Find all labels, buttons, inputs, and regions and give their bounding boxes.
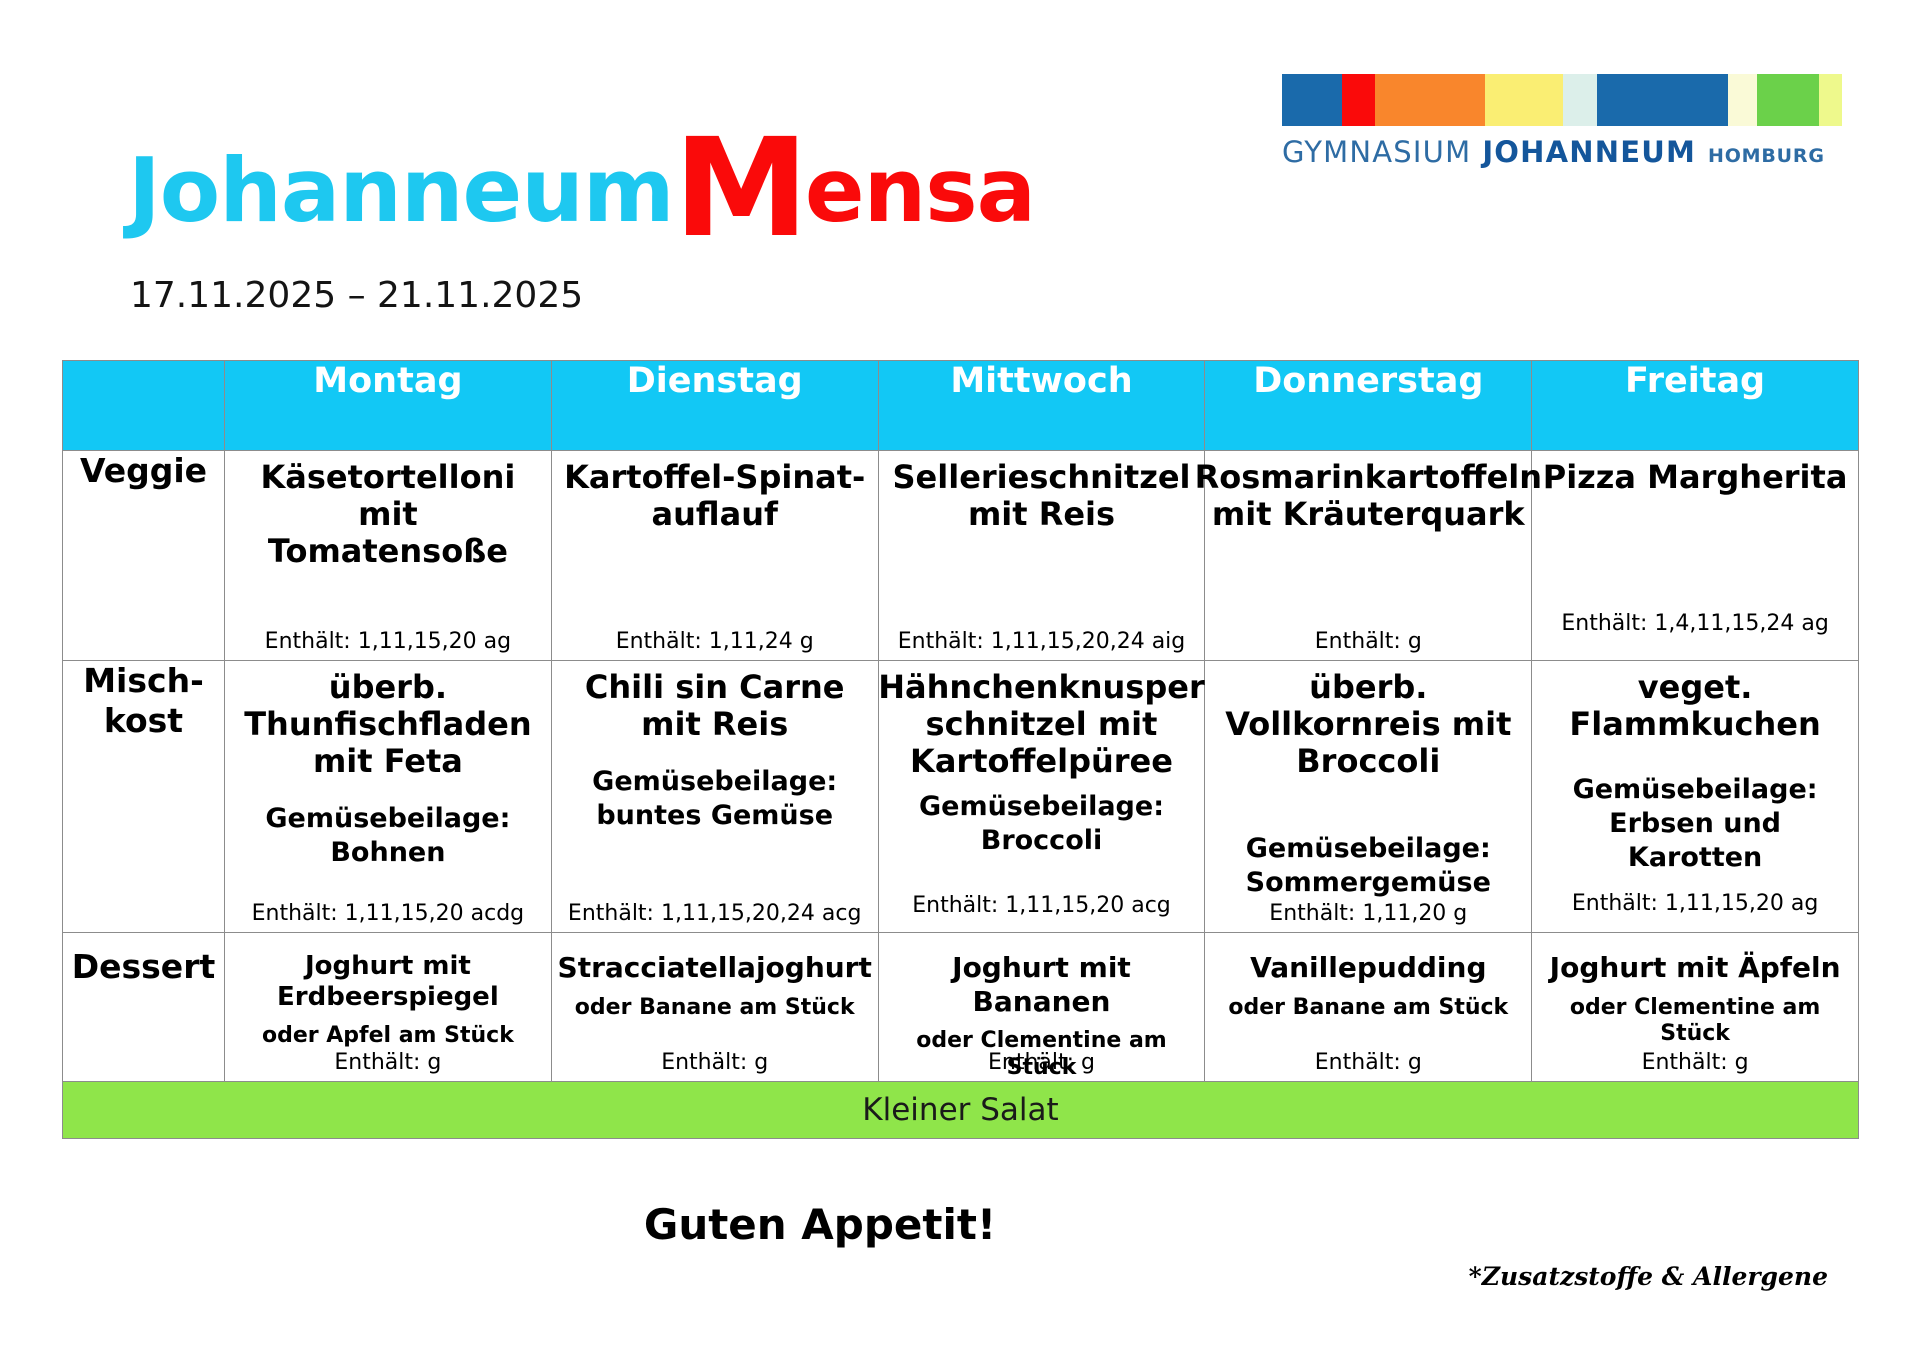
allergen-info: Enthält: g: [552, 1050, 878, 1075]
meal-cell-dessert-donnerstag: Vanillepudding oder Banane am Stück Enth…: [1205, 933, 1532, 1082]
meal-cell-veggie-donnerstag: Rosmarinkartoffeln mit Kräuterquark Enth…: [1205, 451, 1532, 661]
allergen-info: Enthält: 1,11,15,20 ag: [225, 629, 551, 654]
dish-name: Joghurt mit Bananen: [887, 951, 1197, 1018]
meal-cell-dessert-montag: Joghurt mit Erdbeerspiegel oder Apfel am…: [225, 933, 552, 1082]
dish-name: überb. Vollkornreis mit Broccoli: [1213, 669, 1523, 780]
dish-name: Pizza Margherita: [1543, 459, 1848, 496]
logo-bar-9: [1819, 74, 1842, 126]
page-title-m: M: [674, 110, 805, 268]
dessert-alternative: oder Banane am Stück: [575, 995, 855, 1021]
logo-bar-7: [1728, 74, 1757, 126]
meal-cell-mischkost-mittwoch: Hähnchenknusper schnitzel mit Kartoffelp…: [878, 661, 1205, 933]
day-header-mittwoch: Mittwoch: [878, 361, 1205, 451]
meal-cell-mischkost-freitag: veget. Flammkuchen Gemüsebeilage: Erbsen…: [1532, 661, 1859, 933]
row-label-veggie: Veggie: [63, 451, 225, 661]
table-row-veggie: Veggie Käsetortelloni mit Tomatensoße En…: [63, 451, 1859, 661]
dish-name: Stracciatellajoghurt: [558, 951, 872, 985]
allergen-info: Enthält: 1,11,15,20 acg: [879, 893, 1205, 918]
logo-color-bars: [1282, 74, 1842, 126]
page-title-mensa: ensa: [805, 139, 1035, 242]
allergen-info: Enthält: 1,11,15,20,24 aig: [879, 629, 1205, 654]
page-title-johanneum: Johanneum: [128, 139, 674, 242]
row-label-mischkost: Misch- kost: [63, 661, 225, 933]
allergen-info: Enthält: 1,4,11,15,24 ag: [1532, 611, 1858, 636]
guten-appetit-text: Guten Appetit!: [0, 1200, 1920, 1249]
row-label-line-2: kost: [63, 701, 224, 741]
dish-name: überb. Thunfischfladen mit Feta: [233, 669, 543, 780]
side-dish: Gemüsebeilage: Bohnen: [233, 802, 543, 870]
allergen-info: Enthält: 1,11,15,20,24 acg: [552, 901, 878, 926]
allergen-info: Enthält: 1,11,15,20 ag: [1532, 891, 1858, 916]
meal-cell-veggie-montag: Käsetortelloni mit Tomatensoße Enthält: …: [225, 451, 552, 661]
dish-name: Joghurt mit Erdbeerspiegel: [233, 951, 543, 1013]
logo-bar-8: [1757, 74, 1819, 126]
dish-name: Käsetortelloni mit Tomatensoße: [233, 459, 543, 570]
dish-name: Rosmarinkartoffeln mit Kräuterquark: [1195, 459, 1542, 533]
dish-name: Joghurt mit Äpfeln: [1550, 951, 1841, 985]
meal-cell-veggie-dienstag: Kartoffel-Spinat-auflauf Enthält: 1,11,2…: [551, 451, 878, 661]
table-header-row: Montag Dienstag Mittwoch Donnerstag Frei…: [63, 361, 1859, 451]
logo-text: GYMNASIUM JOHANNEUM HOMBURG: [1282, 135, 1842, 169]
date-range: 17.11.2025 – 21.11.2025: [130, 275, 583, 316]
meal-cell-mischkost-dienstag: Chili sin Carne mit Reis Gemüsebeilage: …: [551, 661, 878, 933]
dish-name: Kartoffel-Spinat-auflauf: [560, 459, 870, 533]
meal-cell-dessert-mittwoch: Joghurt mit Bananen oder Clementine am S…: [878, 933, 1205, 1082]
menu-table: Montag Dienstag Mittwoch Donnerstag Frei…: [62, 360, 1859, 1139]
logo-bar-5: [1563, 74, 1597, 126]
dessert-alternative: oder Banane am Stück: [1228, 995, 1508, 1021]
allergen-info: Enthält: g: [225, 1050, 551, 1075]
dish-name: Vanillepudding: [1250, 951, 1486, 985]
logo-text-homburg: HOMBURG: [1708, 145, 1825, 167]
dessert-alternative: oder Clementine am Stück: [1540, 995, 1850, 1048]
table-row-salad: Kleiner Salat: [63, 1081, 1859, 1138]
logo-bar-6: [1597, 74, 1728, 126]
side-dish: Gemüsebeilage: Sommergemüse: [1213, 832, 1523, 900]
logo-bar-3: [1375, 74, 1485, 126]
allergen-info: Enthält: g: [1205, 629, 1531, 654]
meal-cell-veggie-mittwoch: Sellerieschnitzel mit Reis Enthält: 1,11…: [878, 451, 1205, 661]
allergen-info: Enthält: 1,11,15,20 acdg: [225, 901, 551, 926]
dish-name: Sellerieschnitzel mit Reis: [887, 459, 1197, 533]
dish-name: veget. Flammkuchen: [1540, 669, 1850, 743]
table-row-dessert: Dessert Joghurt mit Erdbeerspiegel oder …: [63, 933, 1859, 1082]
logo-bar-1: [1282, 74, 1342, 126]
allergen-info: Enthält: g: [1532, 1050, 1858, 1075]
meal-cell-mischkost-montag: überb. Thunfischfladen mit Feta Gemüsebe…: [225, 661, 552, 933]
school-logo: GYMNASIUM JOHANNEUM HOMBURG: [1282, 74, 1842, 169]
allergen-info: Enthält: 1,11,20 g: [1205, 901, 1531, 926]
zusatzstoffe-note: *Zusatzstoffe & Allergene: [1469, 1262, 1828, 1291]
table-row-mischkost: Misch- kost überb. Thunfischfladen mit F…: [63, 661, 1859, 933]
side-dish: Gemüsebeilage: Broccoli: [887, 790, 1197, 858]
page-title: JohanneumMensa: [128, 96, 1035, 254]
allergen-info: Enthält: g: [879, 1050, 1205, 1075]
meal-cell-dessert-freitag: Joghurt mit Äpfeln oder Clementine am St…: [1532, 933, 1859, 1082]
row-label-dessert: Dessert: [63, 933, 225, 1082]
logo-text-gymnasium: GYMNASIUM: [1282, 135, 1471, 169]
logo-bar-2: [1342, 74, 1375, 126]
meal-cell-dessert-dienstag: Stracciatellajoghurt oder Banane am Stüc…: [551, 933, 878, 1082]
guten-appetit-inner: Guten Appetit!: [644, 1200, 996, 1249]
menu-page: JohanneumMensa 17.11.2025 – 21.11.2025 G…: [0, 0, 1920, 1362]
side-dish: Gemüsebeilage: Erbsen und Karotten: [1540, 773, 1850, 874]
dish-name: Chili sin Carne mit Reis: [560, 669, 870, 743]
side-dish: Gemüsebeilage: buntes Gemüse: [560, 765, 870, 833]
day-header-freitag: Freitag: [1532, 361, 1859, 451]
meal-cell-mischkost-donnerstag: überb. Vollkornreis mit Broccoli Gemüseb…: [1205, 661, 1532, 933]
day-header-donnerstag: Donnerstag: [1205, 361, 1532, 451]
day-header-dienstag: Dienstag: [551, 361, 878, 451]
dessert-alternative: oder Apfel am Stück: [262, 1023, 514, 1049]
row-label-line-1: Misch-: [63, 661, 224, 701]
meal-cell-veggie-freitag: Pizza Margherita Enthält: 1,4,11,15,24 a…: [1532, 451, 1859, 661]
table-corner-cell: [63, 361, 225, 451]
dish-name: Hähnchenknusper schnitzel mit Kartoffelp…: [878, 669, 1204, 780]
logo-text-johanneum: JOHANNEUM: [1482, 135, 1696, 169]
allergen-info: Enthält: g: [1205, 1050, 1531, 1075]
allergen-info: Enthält: 1,11,24 g: [552, 629, 878, 654]
salad-bar-label: Kleiner Salat: [63, 1081, 1859, 1138]
logo-bar-4: [1485, 74, 1563, 126]
day-header-montag: Montag: [225, 361, 552, 451]
